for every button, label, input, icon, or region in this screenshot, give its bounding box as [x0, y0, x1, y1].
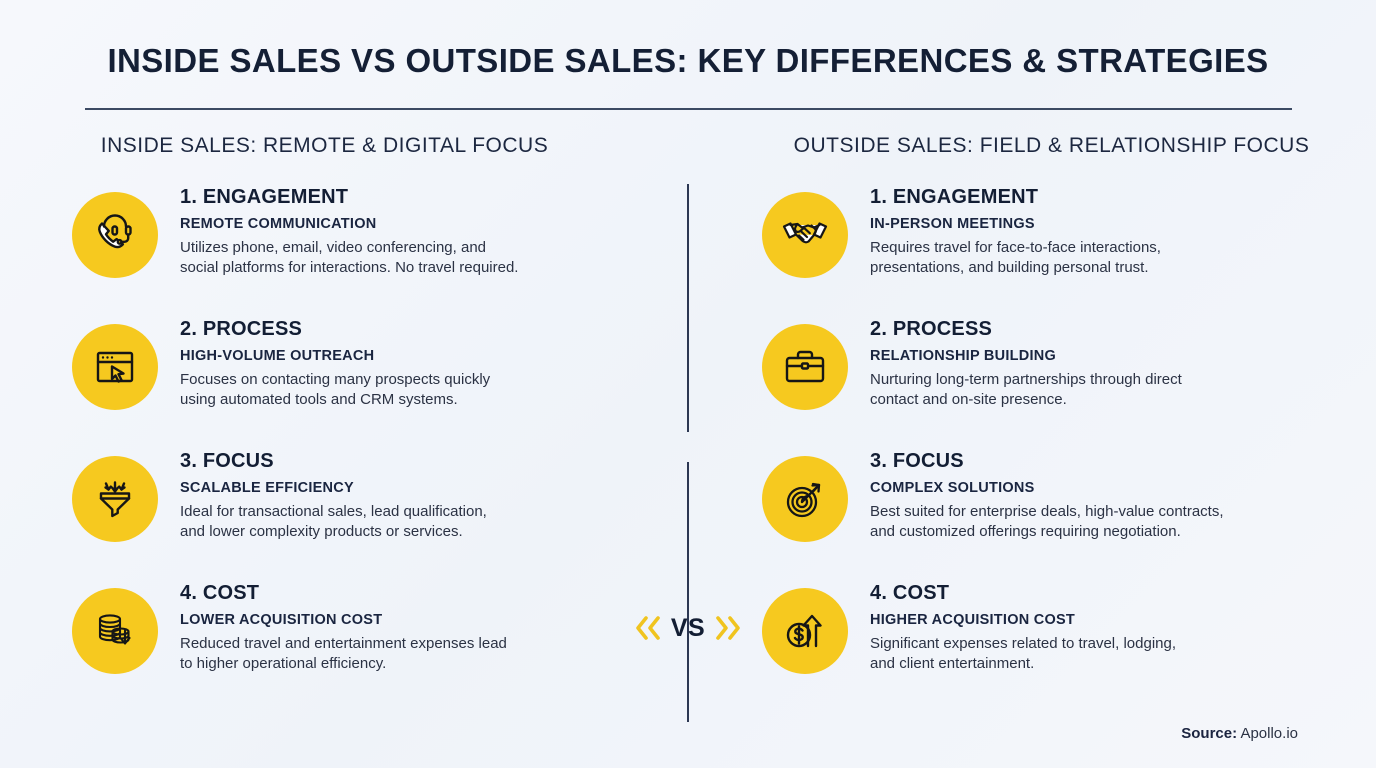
item-title: 4. COST: [870, 582, 1176, 605]
dollar-up-arrow-icon: [762, 588, 848, 674]
coins-down-arrow-icon: [72, 588, 158, 674]
item-description: Reduced travel and entertainment expense…: [180, 634, 507, 675]
title-divider-rule: [85, 108, 1292, 110]
item-subtitle: RELATIONSHIP BUILDING: [870, 348, 1182, 365]
item-subtitle: REMOTE COMMUNICATION: [180, 216, 518, 233]
funnel-icon: [72, 456, 158, 542]
list-item: 4. COST LOWER ACQUISITION COST Reduced t…: [72, 580, 672, 690]
target-arrow-icon: [762, 456, 848, 542]
list-item: 1. ENGAGEMENT REMOTE COMMUNICATION Utili…: [72, 184, 672, 294]
list-item: 2. PROCESS RELATIONSHIP BUILDING Nurturi…: [762, 316, 1362, 426]
column-headers: INSIDE SALES: REMOTE & DIGITAL FOCUS OUT…: [0, 134, 1376, 158]
list-item: 3. FOCUS COMPLEX SOLUTIONS Best suited f…: [762, 448, 1362, 558]
column-divider-bottom: [687, 462, 689, 722]
item-title: 3. FOCUS: [870, 450, 1224, 473]
item-title: 2. PROCESS: [180, 318, 490, 341]
inside-sales-column: 1. ENGAGEMENT REMOTE COMMUNICATION Utili…: [72, 184, 672, 690]
page-title: INSIDE SALES VS OUTSIDE SALES: KEY DIFFE…: [0, 42, 1376, 80]
item-text: 2. PROCESS RELATIONSHIP BUILDING Nurturi…: [870, 316, 1182, 410]
item-subtitle: SCALABLE EFFICIENCY: [180, 480, 487, 497]
item-description: Significant expenses related to travel, …: [870, 634, 1176, 675]
title-block: INSIDE SALES VS OUTSIDE SALES: KEY DIFFE…: [0, 0, 1376, 110]
item-description: Best suited for enterprise deals, high-v…: [870, 502, 1224, 543]
comparison-body: 1. ENGAGEMENT REMOTE COMMUNICATION Utili…: [0, 184, 1376, 690]
item-subtitle: LOWER ACQUISITION COST: [180, 612, 507, 629]
outside-sales-column: 1. ENGAGEMENT IN-PERSON MEETINGS Require…: [762, 184, 1362, 690]
column-header-inside-sales: INSIDE SALES: REMOTE & DIGITAL FOCUS: [0, 134, 697, 158]
item-description: Utilizes phone, email, video conferencin…: [180, 238, 518, 279]
item-description: Ideal for transactional sales, lead qual…: [180, 502, 487, 543]
list-item: 4. COST HIGHER ACQUISITION COST Signific…: [762, 580, 1362, 690]
item-subtitle: IN-PERSON MEETINGS: [870, 216, 1161, 233]
briefcase-icon: [762, 324, 848, 410]
browser-cursor-icon: [72, 324, 158, 410]
item-text: 4. COST LOWER ACQUISITION COST Reduced t…: [180, 580, 507, 674]
item-title: 4. COST: [180, 582, 507, 605]
item-text: 2. PROCESS HIGH-VOLUME OUTREACH Focuses …: [180, 316, 490, 410]
list-item: 2. PROCESS HIGH-VOLUME OUTREACH Focuses …: [72, 316, 672, 426]
item-text: 3. FOCUS COMPLEX SOLUTIONS Best suited f…: [870, 448, 1224, 542]
chevron-left-double-icon: [631, 611, 665, 645]
item-subtitle: HIGH-VOLUME OUTREACH: [180, 348, 490, 365]
column-divider-top: [687, 184, 689, 432]
item-text: 1. ENGAGEMENT IN-PERSON MEETINGS Require…: [870, 184, 1161, 278]
infographic-page: INSIDE SALES VS OUTSIDE SALES: KEY DIFFE…: [0, 0, 1376, 768]
item-description: Nurturing long-term partnerships through…: [870, 370, 1182, 411]
item-title: 1. ENGAGEMENT: [870, 186, 1161, 209]
vs-badge: VS: [624, 602, 752, 654]
item-text: 3. FOCUS SCALABLE EFFICIENCY Ideal for t…: [180, 448, 487, 542]
list-item: 1. ENGAGEMENT IN-PERSON MEETINGS Require…: [762, 184, 1362, 294]
item-title: 3. FOCUS: [180, 450, 487, 473]
item-title: 1. ENGAGEMENT: [180, 186, 518, 209]
source-attribution: Source: Apollo.io: [1181, 725, 1298, 742]
item-subtitle: HIGHER ACQUISITION COST: [870, 612, 1176, 629]
list-item: 3. FOCUS SCALABLE EFFICIENCY Ideal for t…: [72, 448, 672, 558]
chevron-right-double-icon: [711, 611, 745, 645]
item-text: 1. ENGAGEMENT REMOTE COMMUNICATION Utili…: [180, 184, 518, 278]
vs-label: VS: [671, 614, 705, 643]
item-title: 2. PROCESS: [870, 318, 1182, 341]
handshake-icon: [762, 192, 848, 278]
source-value: Apollo.io: [1240, 725, 1298, 742]
headset-phone-icon: [72, 192, 158, 278]
source-label: Source:: [1181, 725, 1237, 742]
item-description: Requires travel for face-to-face interac…: [870, 238, 1161, 279]
item-text: 4. COST HIGHER ACQUISITION COST Signific…: [870, 580, 1176, 674]
item-subtitle: COMPLEX SOLUTIONS: [870, 480, 1224, 497]
item-description: Focuses on contacting many prospects qui…: [180, 370, 490, 411]
column-header-outside-sales: OUTSIDE SALES: FIELD & RELATIONSHIP FOCU…: [697, 134, 1376, 158]
